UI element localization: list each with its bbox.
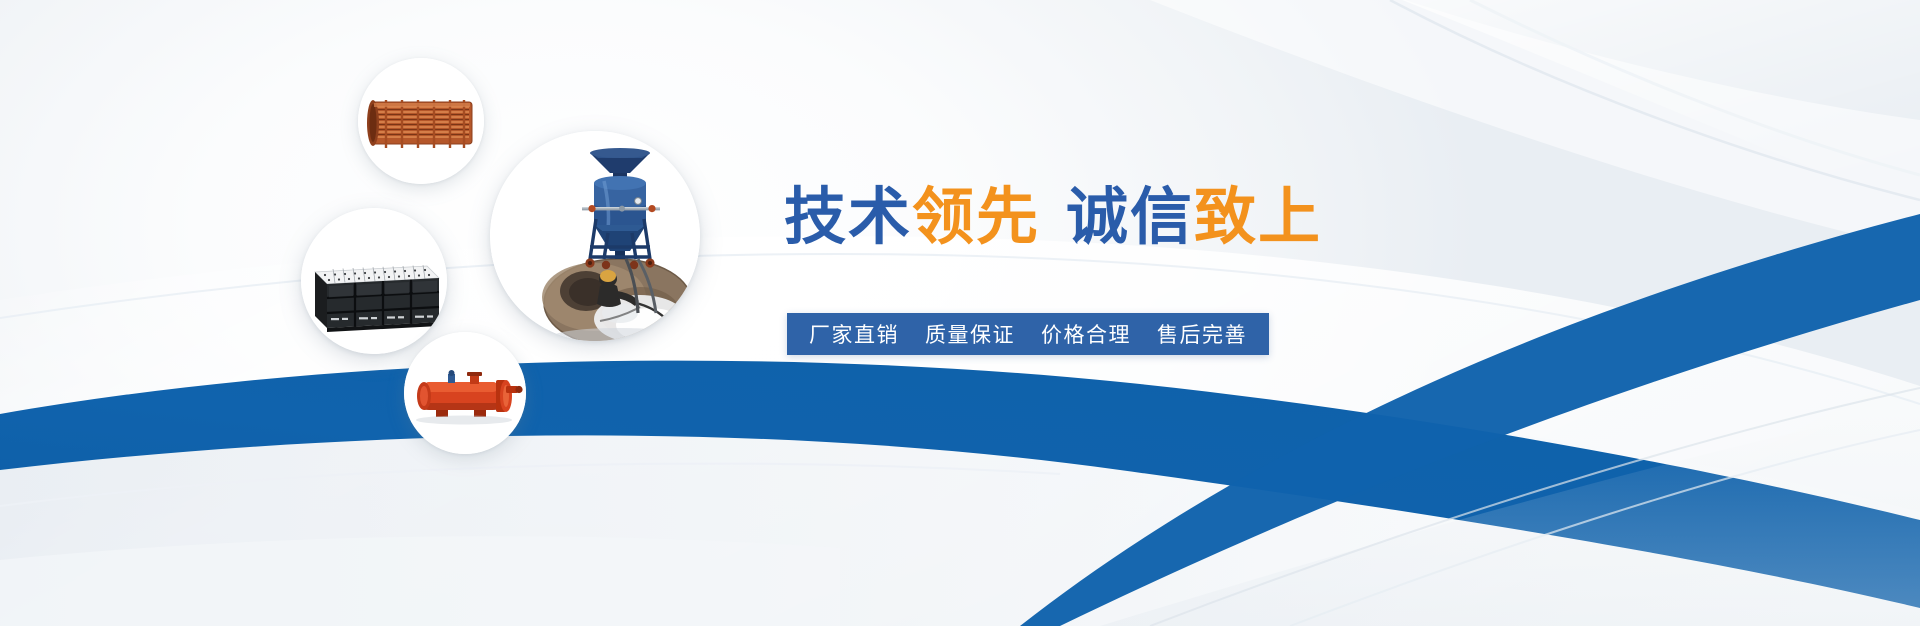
page-title: 技术领先诚信致上 — [784, 186, 1322, 248]
copper-tube-bundle-image — [358, 58, 484, 184]
badge-item-quality-guarantee: 质量保证 — [925, 319, 1015, 349]
sandblasting-pot-and-worker-image — [490, 131, 700, 341]
red-tank-vessel-image — [404, 332, 526, 454]
hero-banner: 技术领先诚信致上 厂家直销 质量保证 价格合理 售后完善 — [0, 0, 1920, 626]
product-circle-copper-tube-bundle — [358, 58, 484, 184]
product-circle-red-tank — [404, 332, 526, 454]
badge-item-manufacturer-direct: 厂家直销 — [809, 319, 899, 349]
badge-item-after-sales-service: 售后完善 — [1157, 319, 1247, 349]
product-circle-sandblasting-equipment — [490, 131, 700, 341]
badge-item-reasonable-price: 价格合理 — [1041, 319, 1131, 349]
feature-badge-bar: 厂家直销 质量保证 价格合理 售后完善 — [787, 313, 1269, 355]
headline-segment-3: 诚信 — [1066, 180, 1194, 253]
headline-segment-4: 致上 — [1194, 180, 1322, 253]
headline-segment-2: 领先 — [912, 180, 1040, 253]
headline-segment-1: 技术 — [784, 180, 912, 253]
